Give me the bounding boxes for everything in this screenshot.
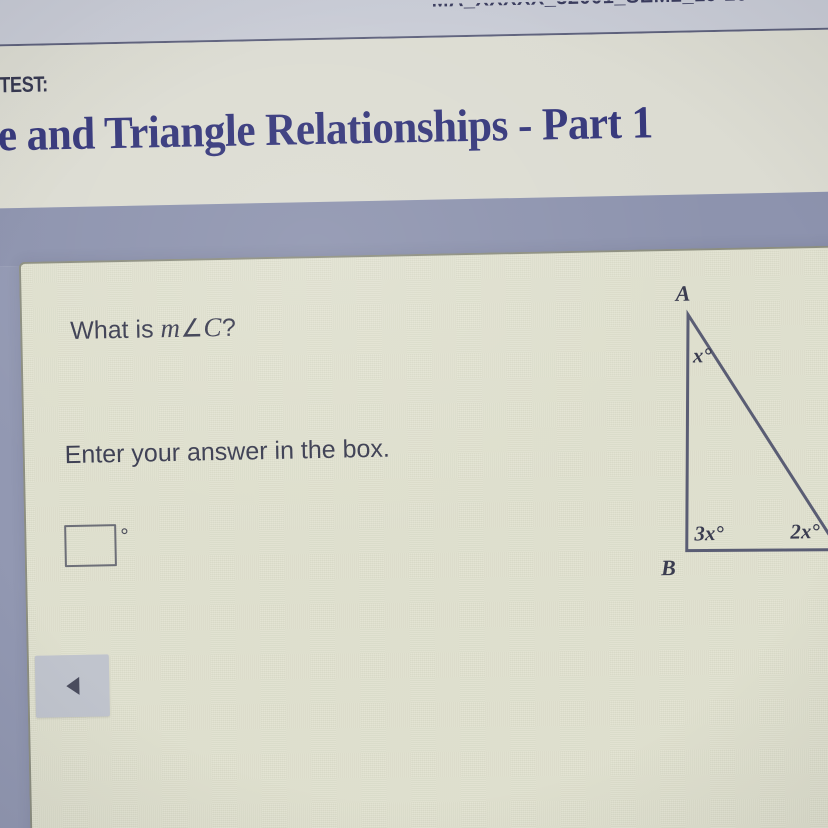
answer-input[interactable] bbox=[64, 524, 117, 567]
vertex-label-b: B bbox=[660, 555, 676, 580]
instruction-text: Enter your answer in the box. bbox=[64, 435, 390, 471]
answer-row: ° bbox=[64, 524, 129, 567]
vertex-label-a: A bbox=[673, 281, 690, 306]
angle-label-c: 2x° bbox=[789, 519, 820, 544]
left-triangle-icon bbox=[66, 677, 79, 695]
angle-label-a: x° bbox=[692, 343, 713, 367]
question-prompt-prefix: What is bbox=[70, 315, 161, 345]
previous-question-button[interactable] bbox=[35, 654, 110, 717]
page-title: ne and Triangle Relationships - Part 1 bbox=[0, 95, 653, 162]
question-prompt-suffix: ? bbox=[222, 314, 236, 342]
math-c: C bbox=[203, 312, 222, 342]
question-card: What is m∠C? Enter your answer in the bo… bbox=[19, 245, 828, 828]
question-math-expression: m∠C bbox=[160, 312, 222, 343]
course-code-text: MA_XXXXX_32001_SEM2_19-20 bbox=[431, 0, 747, 13]
angle-label-b: 3x° bbox=[693, 521, 724, 546]
unit-test-label: IT TEST: bbox=[0, 71, 48, 98]
screenshot-stage: MA_XXXXX_32001_SEM2_19-20 IT TEST: ne an… bbox=[0, 0, 828, 828]
math-m: m bbox=[160, 313, 181, 343]
angle-symbol-icon: ∠ bbox=[180, 315, 203, 342]
header-band: IT TEST: ne and Triangle Relationships -… bbox=[0, 29, 828, 209]
triangle-svg: A B C x° 3x° 2x° bbox=[609, 269, 828, 614]
question-prompt: What is m∠C? bbox=[70, 312, 236, 346]
degree-symbol-label: ° bbox=[120, 526, 129, 547]
screen-surface: MA_XXXXX_32001_SEM2_19-20 IT TEST: ne an… bbox=[0, 0, 828, 828]
triangle-figure: A B C x° 3x° 2x° bbox=[609, 269, 828, 614]
